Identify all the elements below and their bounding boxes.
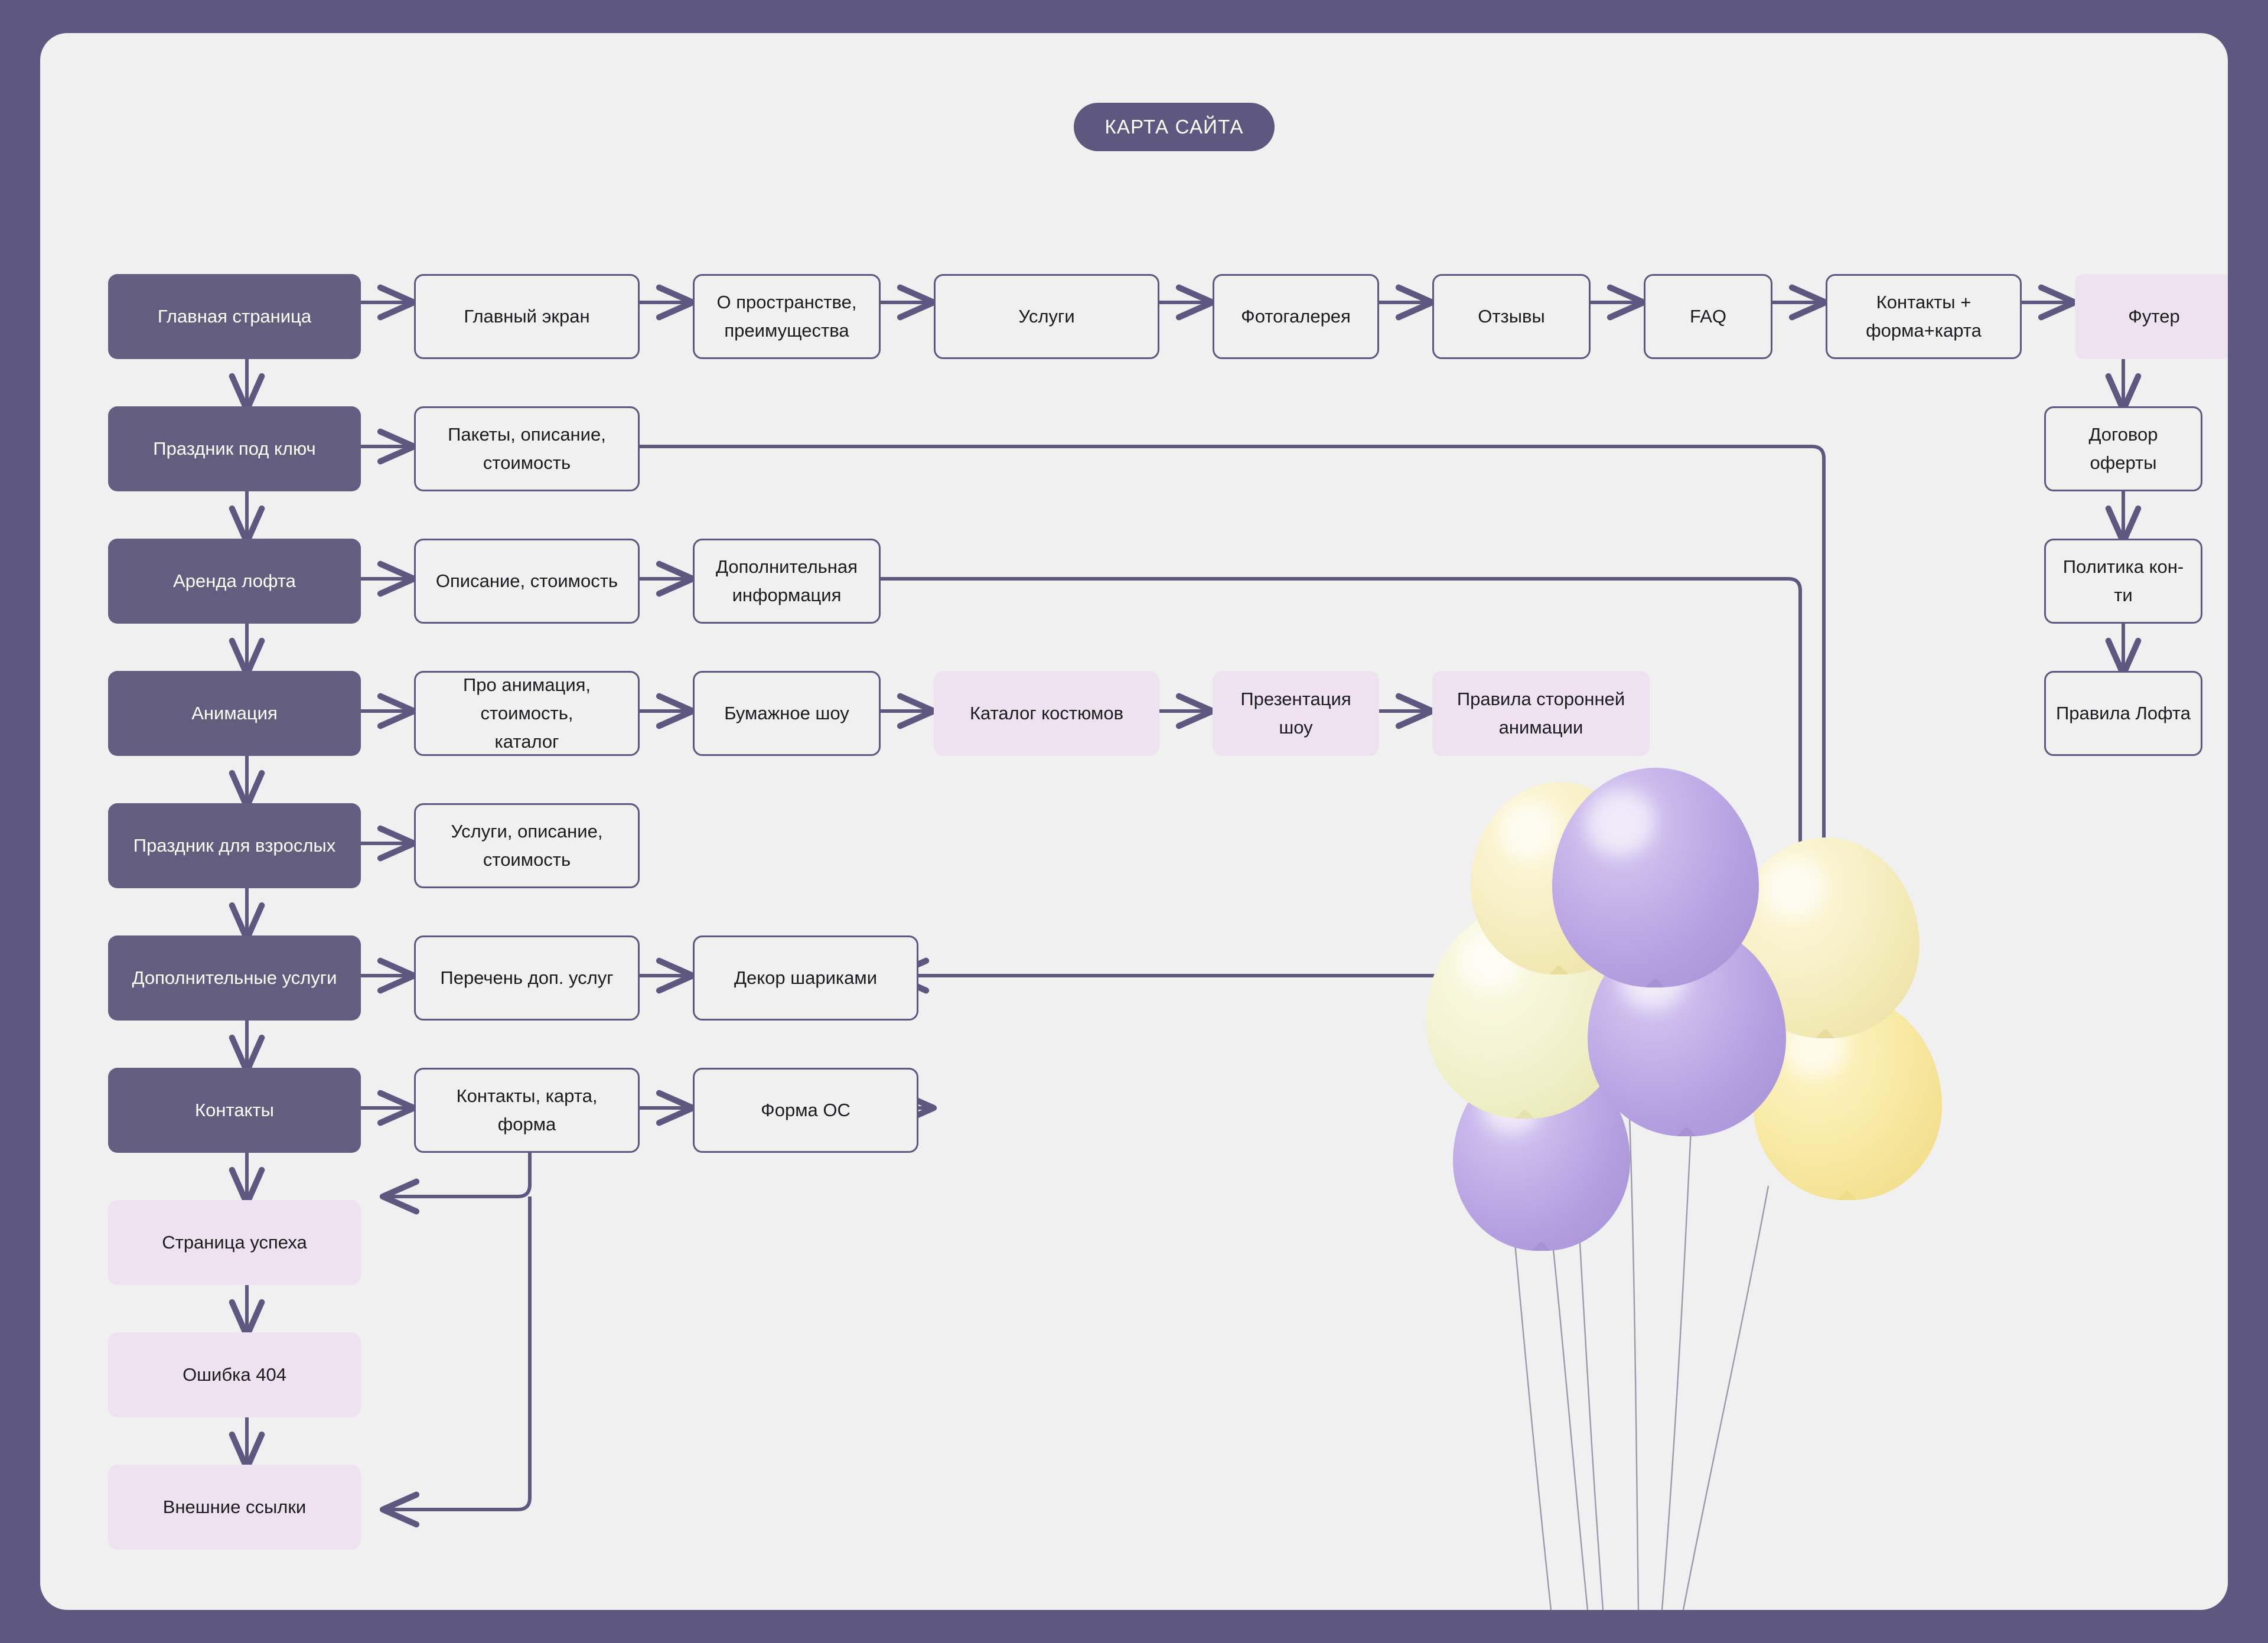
- node-extra-services[interactable]: Дополнительные услуги: [108, 935, 361, 1021]
- node-loft-rent[interactable]: Аренда лофта: [108, 539, 361, 624]
- node-privacy-policy[interactable]: Политика кон-ти: [2044, 539, 2202, 624]
- node-loft-rules[interactable]: Правила Лофта: [2044, 671, 2202, 756]
- node-loft-desc[interactable]: Описание, стоимость: [414, 539, 640, 624]
- node-feedback-form[interactable]: Форма ОС: [693, 1068, 918, 1153]
- diagram-canvas: КАРТА САЙТА: [40, 33, 2228, 1610]
- node-extra-info[interactable]: Дополнительная информация: [693, 539, 881, 624]
- node-services[interactable]: Услуги: [934, 274, 1159, 359]
- node-faq[interactable]: FAQ: [1644, 274, 1772, 359]
- node-adult-party[interactable]: Праздник для взрослых: [108, 803, 361, 888]
- node-packages[interactable]: Пакеты, описание, стоимость: [414, 406, 640, 491]
- node-main-screen[interactable]: Главный экран: [414, 274, 640, 359]
- node-contacts[interactable]: Контакты: [108, 1068, 361, 1153]
- node-photo-gallery[interactable]: Фотогалерея: [1213, 274, 1379, 359]
- node-footer[interactable]: Футер: [2075, 274, 2228, 359]
- node-external-links[interactable]: Внешние ссылки: [108, 1465, 361, 1550]
- node-about-space[interactable]: О пространстве, преимущества: [693, 274, 881, 359]
- node-home[interactable]: Главная страница: [108, 274, 361, 359]
- connector-layer: [40, 33, 2228, 1610]
- node-costume-catalog[interactable]: Каталог костюмов: [934, 671, 1159, 756]
- node-show-presentation[interactable]: Презентация шоу: [1213, 671, 1379, 756]
- node-reviews[interactable]: Отзывы: [1432, 274, 1591, 359]
- node-adult-services[interactable]: Услуги, описание, стоимость: [414, 803, 640, 888]
- node-turnkey[interactable]: Праздник под ключ: [108, 406, 361, 491]
- node-balloon-decor[interactable]: Декор шариками: [693, 935, 918, 1021]
- node-about-animation[interactable]: Про анимация, стоимость, каталог: [414, 671, 640, 756]
- node-paper-show[interactable]: Бумажное шоу: [693, 671, 881, 756]
- node-extra-list[interactable]: Перечень доп. услуг: [414, 935, 640, 1021]
- node-animation[interactable]: Анимация: [108, 671, 361, 756]
- node-error-404[interactable]: Ошибка 404: [108, 1332, 361, 1417]
- node-success-page[interactable]: Страница успеха: [108, 1200, 361, 1285]
- node-contacts-form-map[interactable]: Контакты + форма+карта: [1826, 274, 2022, 359]
- node-offer-agreement[interactable]: Договор оферты: [2044, 406, 2202, 491]
- node-contacts-map-form[interactable]: Контакты, карта, форма: [414, 1068, 640, 1153]
- node-third-party-rules[interactable]: Правила сторонней анимации: [1432, 671, 1650, 756]
